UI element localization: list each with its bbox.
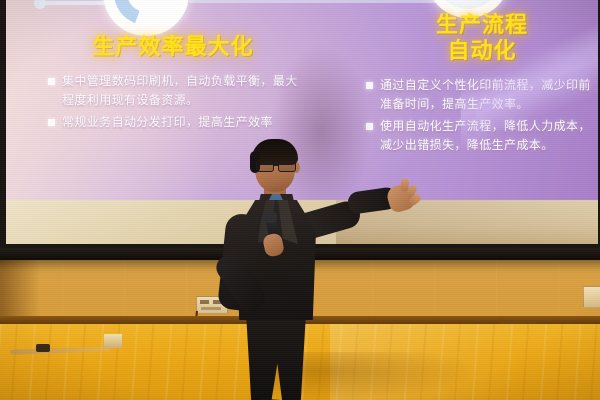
presenter-hand-right: [385, 182, 417, 214]
slide-right-title-line2: 自动化: [366, 38, 598, 64]
floor-pedal: [36, 344, 50, 352]
list-item: 通过自定义个性化印前流程，减少印前准备时间，提高生产效率。: [366, 76, 598, 115]
bullet-square-icon: [366, 82, 373, 89]
bullet-square-icon: [48, 119, 55, 126]
slide-left-title: 生产效率最大化: [48, 34, 298, 60]
bullet-text: 常规业务自动分发打印，提高生产效率: [62, 113, 273, 132]
floor-box: [104, 334, 122, 348]
connector-line-right: [189, 0, 439, 3]
glasses-bridge: [273, 164, 278, 166]
connector-line: [39, 1, 111, 5]
glasses-lens-left: [256, 160, 274, 172]
glasses-icon: [255, 160, 296, 171]
slide-right-column: 生产流程 自动化 通过自定义个性化印前流程，减少印前准备时间，提高生产效率。 使…: [366, 12, 598, 158]
bullet-square-icon: [48, 78, 55, 85]
list-item: 集中管理数码印刷机，自动负载平衡，最大程度利用现有设备资源。: [48, 72, 298, 111]
circle-graphic-inner: [435, 0, 501, 9]
presenter-legs: [242, 314, 310, 400]
bullet-text: 集中管理数码印刷机，自动负载平衡，最大程度利用现有设备资源。: [62, 72, 298, 111]
bullet-text: 通过自定义个性化印前流程，减少印前准备时间，提高生产效率。: [380, 76, 598, 115]
bullet-square-icon: [366, 123, 373, 130]
presentation-photo: 生产效率最大化 集中管理数码印刷机，自动负载平衡，最大程度利用现有设备资源。 常…: [0, 0, 600, 400]
presenter: [200, 138, 420, 400]
wall-outlet-right: [583, 286, 600, 308]
slide-left-bullets: 集中管理数码印刷机，自动负载平衡，最大程度利用现有设备资源。 常规业务自动分发打…: [48, 72, 298, 132]
list-item: 常规业务自动分发打印，提高生产效率: [48, 113, 298, 132]
glasses-lens-right: [278, 160, 296, 172]
slide-right-title-line1: 生产流程: [366, 12, 598, 38]
slide-left-column: 生产效率最大化 集中管理数码印刷机，自动负载平衡，最大程度利用现有设备资源。 常…: [48, 34, 298, 134]
